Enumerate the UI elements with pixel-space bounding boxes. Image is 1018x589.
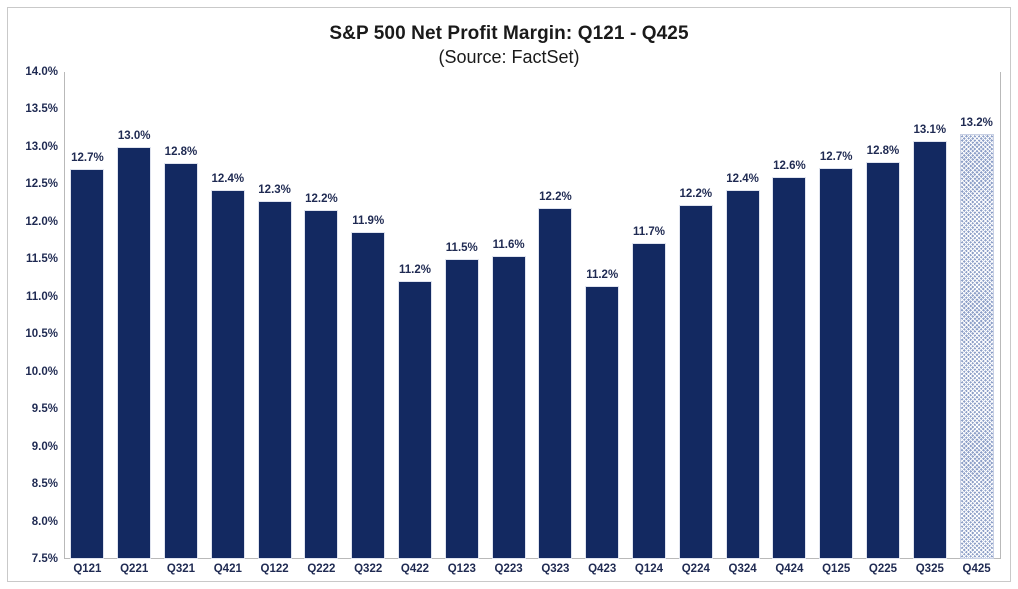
bar-slot: 11.9% bbox=[345, 72, 392, 559]
y-axis-tick: 9.0% bbox=[10, 441, 58, 453]
x-axis-tick: Q322 bbox=[354, 563, 382, 575]
x-axis-tick: Q125 bbox=[822, 563, 850, 575]
bar-value-label: 11.9% bbox=[352, 215, 384, 227]
x-axis-tick: Q425 bbox=[963, 563, 991, 575]
bar-value-label: 12.4% bbox=[726, 173, 759, 185]
chart-container: S&P 500 Net Profit Margin: Q121 - Q425 (… bbox=[0, 0, 1018, 589]
bar-value-label: 12.3% bbox=[258, 184, 291, 196]
x-axis-tick: Q324 bbox=[729, 563, 757, 575]
bar-value-label: 12.7% bbox=[71, 152, 104, 164]
y-axis-tick: 8.0% bbox=[10, 516, 58, 528]
bar-value-label: 13.0% bbox=[118, 130, 151, 142]
plot-right-border bbox=[1000, 72, 1001, 559]
bar-value-label: 11.6% bbox=[493, 239, 525, 251]
x-axis-tick: Q424 bbox=[775, 563, 803, 575]
bar-value-label: 11.2% bbox=[586, 269, 618, 281]
bar-q122[interactable] bbox=[258, 201, 292, 559]
bar-slot: 13.2% bbox=[953, 72, 1000, 559]
bar-q325[interactable] bbox=[913, 141, 947, 559]
bar-value-label: 11.7% bbox=[633, 226, 665, 238]
y-axis-tick: 11.0% bbox=[10, 291, 58, 303]
chart-title-block: S&P 500 Net Profit Margin: Q121 - Q425 (… bbox=[0, 22, 1018, 69]
bar-value-label: 11.5% bbox=[446, 242, 478, 254]
y-axis-tick: 7.5% bbox=[10, 553, 58, 565]
bar-q323[interactable] bbox=[538, 208, 572, 559]
bar-slot: 12.8% bbox=[158, 72, 205, 559]
bar-q322[interactable] bbox=[351, 232, 385, 559]
bar-slot: 12.6% bbox=[766, 72, 813, 559]
x-axis-tick: Q421 bbox=[214, 563, 242, 575]
bar-q223[interactable] bbox=[492, 256, 526, 559]
bar-slot: 12.2% bbox=[298, 72, 345, 559]
bar-slot: 12.4% bbox=[719, 72, 766, 559]
bar-value-label: 12.2% bbox=[679, 188, 712, 200]
bar-value-label: 12.7% bbox=[820, 151, 853, 163]
page-title: S&P 500 Net Profit Margin: Q121 - Q425 bbox=[0, 22, 1018, 46]
y-axis-tick: 8.5% bbox=[10, 478, 58, 490]
bar-q125[interactable] bbox=[819, 168, 853, 559]
bar-slot: 11.6% bbox=[485, 72, 532, 559]
bar-slot: 12.8% bbox=[860, 72, 907, 559]
y-axis-tick: 14.0% bbox=[10, 66, 58, 78]
bar-series: 12.7%13.0%12.8%12.4%12.3%12.2%11.9%11.2%… bbox=[64, 72, 1000, 559]
bar-slot: 13.1% bbox=[906, 72, 953, 559]
bar-value-label: 12.6% bbox=[773, 160, 806, 172]
bar-q124[interactable] bbox=[632, 243, 666, 559]
bar-slot: 11.7% bbox=[626, 72, 673, 559]
bar-q222[interactable] bbox=[304, 210, 338, 559]
bar-forecast-q425[interactable] bbox=[960, 134, 994, 559]
y-axis-tick: 10.0% bbox=[10, 366, 58, 378]
x-axis-tick: Q222 bbox=[307, 563, 335, 575]
bar-q324[interactable] bbox=[726, 190, 760, 559]
bar-q123[interactable] bbox=[445, 259, 479, 559]
x-axis-tick: Q423 bbox=[588, 563, 616, 575]
x-axis-tick: Q225 bbox=[869, 563, 897, 575]
bar-q225[interactable] bbox=[866, 162, 900, 559]
bar-slot: 11.2% bbox=[579, 72, 626, 559]
bar-q423[interactable] bbox=[585, 286, 619, 559]
y-axis-tick: 13.0% bbox=[10, 141, 58, 153]
bar-slot: 12.7% bbox=[813, 72, 860, 559]
y-axis-tick: 10.5% bbox=[10, 328, 58, 340]
bar-q421[interactable] bbox=[211, 190, 245, 559]
y-axis-tick: 12.0% bbox=[10, 216, 58, 228]
y-axis-tick: 11.5% bbox=[10, 253, 58, 265]
bar-q422[interactable] bbox=[398, 281, 432, 559]
x-axis-tick: Q123 bbox=[448, 563, 476, 575]
x-axis-tick: Q122 bbox=[261, 563, 289, 575]
y-axis-tick-labels: 14.0%13.5%13.0%12.5%12.0%11.5%11.0%10.5%… bbox=[6, 72, 58, 559]
bar-slot: 12.4% bbox=[204, 72, 251, 559]
bar-q321[interactable] bbox=[164, 163, 198, 559]
x-axis-tick: Q321 bbox=[167, 563, 195, 575]
x-axis-tick: Q121 bbox=[73, 563, 101, 575]
bar-value-label: 12.8% bbox=[867, 145, 900, 157]
bar-value-label: 11.2% bbox=[399, 264, 431, 276]
bar-slot: 12.2% bbox=[672, 72, 719, 559]
bar-slot: 11.2% bbox=[392, 72, 439, 559]
bar-slot: 13.0% bbox=[111, 72, 158, 559]
bar-value-label: 13.2% bbox=[960, 117, 993, 129]
bar-value-label: 12.2% bbox=[305, 193, 338, 205]
y-axis-tick: 12.5% bbox=[10, 178, 58, 190]
y-axis-tick: 9.5% bbox=[10, 403, 58, 415]
x-axis-tick: Q124 bbox=[635, 563, 663, 575]
bar-q224[interactable] bbox=[679, 205, 713, 559]
bar-q424[interactable] bbox=[772, 177, 806, 559]
x-axis-tick: Q224 bbox=[682, 563, 710, 575]
bar-slot: 12.3% bbox=[251, 72, 298, 559]
bar-slot: 12.7% bbox=[64, 72, 111, 559]
bar-value-label: 12.2% bbox=[539, 191, 572, 203]
x-axis-tick-labels: Q121Q221Q321Q421Q122Q222Q322Q422Q123Q223… bbox=[64, 563, 1000, 585]
chart-source-subtitle: (Source: FactSet) bbox=[0, 46, 1018, 69]
bar-slot: 11.5% bbox=[438, 72, 485, 559]
bar-value-label: 12.8% bbox=[165, 146, 198, 158]
x-axis-tick: Q422 bbox=[401, 563, 429, 575]
bar-value-label: 12.4% bbox=[211, 173, 244, 185]
bar-q121[interactable] bbox=[70, 169, 104, 559]
x-axis-tick: Q223 bbox=[495, 563, 523, 575]
x-axis-tick: Q325 bbox=[916, 563, 944, 575]
x-axis-tick: Q323 bbox=[541, 563, 569, 575]
bar-value-label: 13.1% bbox=[913, 124, 946, 136]
y-axis-tick: 13.5% bbox=[10, 103, 58, 115]
bar-slot: 12.2% bbox=[532, 72, 579, 559]
bar-q221[interactable] bbox=[117, 147, 151, 559]
x-axis-tick: Q221 bbox=[120, 563, 148, 575]
